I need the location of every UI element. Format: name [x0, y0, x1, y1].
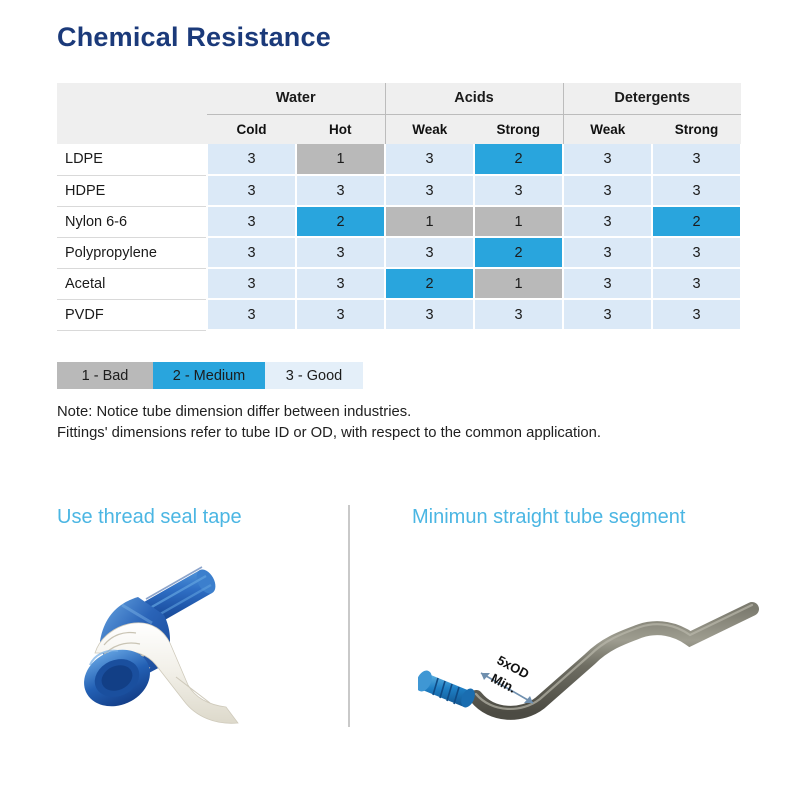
dimension-annotation: 5xOD Min. [481, 652, 533, 703]
rating-cell: 3 [652, 299, 741, 330]
row-label-polypropylene: Polypropylene [57, 237, 207, 268]
rating-cell: 3 [207, 268, 296, 299]
note-line-2: Fittings' dimensions refer to tube ID or… [57, 423, 787, 444]
rating-cell: 3 [563, 237, 652, 268]
subheader-blank [57, 114, 207, 144]
rating-cell: 3 [385, 144, 474, 175]
chemical-resistance-table: Water Acids Detergents Cold Hot Weak Str… [57, 83, 742, 331]
subheader-acids-strong: Strong [474, 114, 563, 144]
rating-cell: 1 [385, 206, 474, 237]
rating-cell: 2 [296, 206, 385, 237]
row-label-acetal: Acetal [57, 268, 207, 299]
rating-cell: 3 [207, 206, 296, 237]
rating-cell: 3 [563, 144, 652, 175]
rating-cell: 3 [652, 268, 741, 299]
section-heading-thread-seal-tape: Use thread seal tape [57, 506, 242, 529]
rating-cell: 3 [385, 237, 474, 268]
legend-item-bad: 1 - Bad [57, 362, 153, 389]
rating-cell: 3 [207, 237, 296, 268]
row-label-nylon-6-6: Nylon 6-6 [57, 206, 207, 237]
rating-cell: 2 [474, 237, 563, 268]
blue-fitting-illustration: Tefen [60, 545, 350, 745]
group-header-detergents: Detergents [563, 83, 741, 114]
blue-tube-fitting [418, 668, 478, 709]
chemical-resistance-page: Chemical Resistance Water Acids Detergen… [0, 0, 798, 800]
note-line-1: Note: Notice tube dimension differ betwe… [57, 402, 787, 423]
subheader-acids-weak: Weak [385, 114, 474, 144]
rating-cell: 3 [563, 299, 652, 330]
rating-legend: 1 - Bad 2 - Medium 3 - Good [57, 362, 363, 389]
legend-item-good: 3 - Good [265, 362, 363, 389]
group-header-water: Water [207, 83, 385, 114]
rating-cell: 3 [207, 299, 296, 330]
subheader-water-hot: Hot [296, 114, 385, 144]
rating-cell: 2 [474, 144, 563, 175]
note-block: Note: Notice tube dimension differ betwe… [57, 402, 787, 444]
group-header-blank [57, 83, 207, 114]
table-row: Acetal332133 [57, 268, 741, 299]
table-row: Polypropylene333233 [57, 237, 741, 268]
rating-cell: 3 [474, 299, 563, 330]
rating-cell: 3 [652, 144, 741, 175]
rating-cell: 2 [652, 206, 741, 237]
legend-item-medium: 2 - Medium [153, 362, 265, 389]
rating-cell: 1 [474, 268, 563, 299]
rating-cell: 3 [652, 237, 741, 268]
table-group-header-row: Water Acids Detergents [57, 83, 741, 114]
rating-cell: 1 [474, 206, 563, 237]
rating-cell: 3 [207, 144, 296, 175]
subheader-detergents-weak: Weak [563, 114, 652, 144]
row-label-ldpe: LDPE [57, 144, 207, 175]
rating-cell: 3 [652, 175, 741, 206]
row-label-hdpe: HDPE [57, 175, 207, 206]
subheader-water-cold: Cold [207, 114, 296, 144]
table-row: LDPE313233 [57, 144, 741, 175]
rating-cell: 3 [296, 299, 385, 330]
page-title: Chemical Resistance [57, 22, 331, 53]
table-header: Water Acids Detergents Cold Hot Weak Str… [57, 83, 741, 144]
rating-cell: 3 [385, 175, 474, 206]
rating-cell: 3 [296, 175, 385, 206]
rating-cell: 3 [563, 206, 652, 237]
table-row: HDPE333333 [57, 175, 741, 206]
rating-cell: 3 [296, 268, 385, 299]
chemical-resistance-table-wrapper: Water Acids Detergents Cold Hot Weak Str… [57, 83, 741, 331]
rating-cell: 1 [296, 144, 385, 175]
rating-cell: 2 [385, 268, 474, 299]
rating-cell: 3 [474, 175, 563, 206]
straight-tube-segment-figure: 5xOD Min. [418, 545, 763, 745]
table-row: Nylon 6-6321132 [57, 206, 741, 237]
subheader-detergents-strong: Strong [652, 114, 741, 144]
rating-cell: 3 [385, 299, 474, 330]
group-header-acids: Acids [385, 83, 563, 114]
table-body: LDPE313233HDPE333333Nylon 6-6321132Polyp… [57, 144, 741, 330]
table-subheader-row: Cold Hot Weak Strong Weak Strong [57, 114, 741, 144]
rating-cell: 3 [563, 175, 652, 206]
thread-seal-tape-figure: Tefen [60, 545, 350, 745]
section-heading-straight-tube-segment: Minimun straight tube segment [412, 506, 685, 529]
bent-tube-illustration: 5xOD Min. [418, 545, 763, 745]
bent-tube [476, 605, 752, 713]
rating-cell: 3 [207, 175, 296, 206]
rating-cell: 3 [563, 268, 652, 299]
rating-cell: 3 [296, 237, 385, 268]
table-row: PVDF333333 [57, 299, 741, 330]
row-label-pvdf: PVDF [57, 299, 207, 330]
